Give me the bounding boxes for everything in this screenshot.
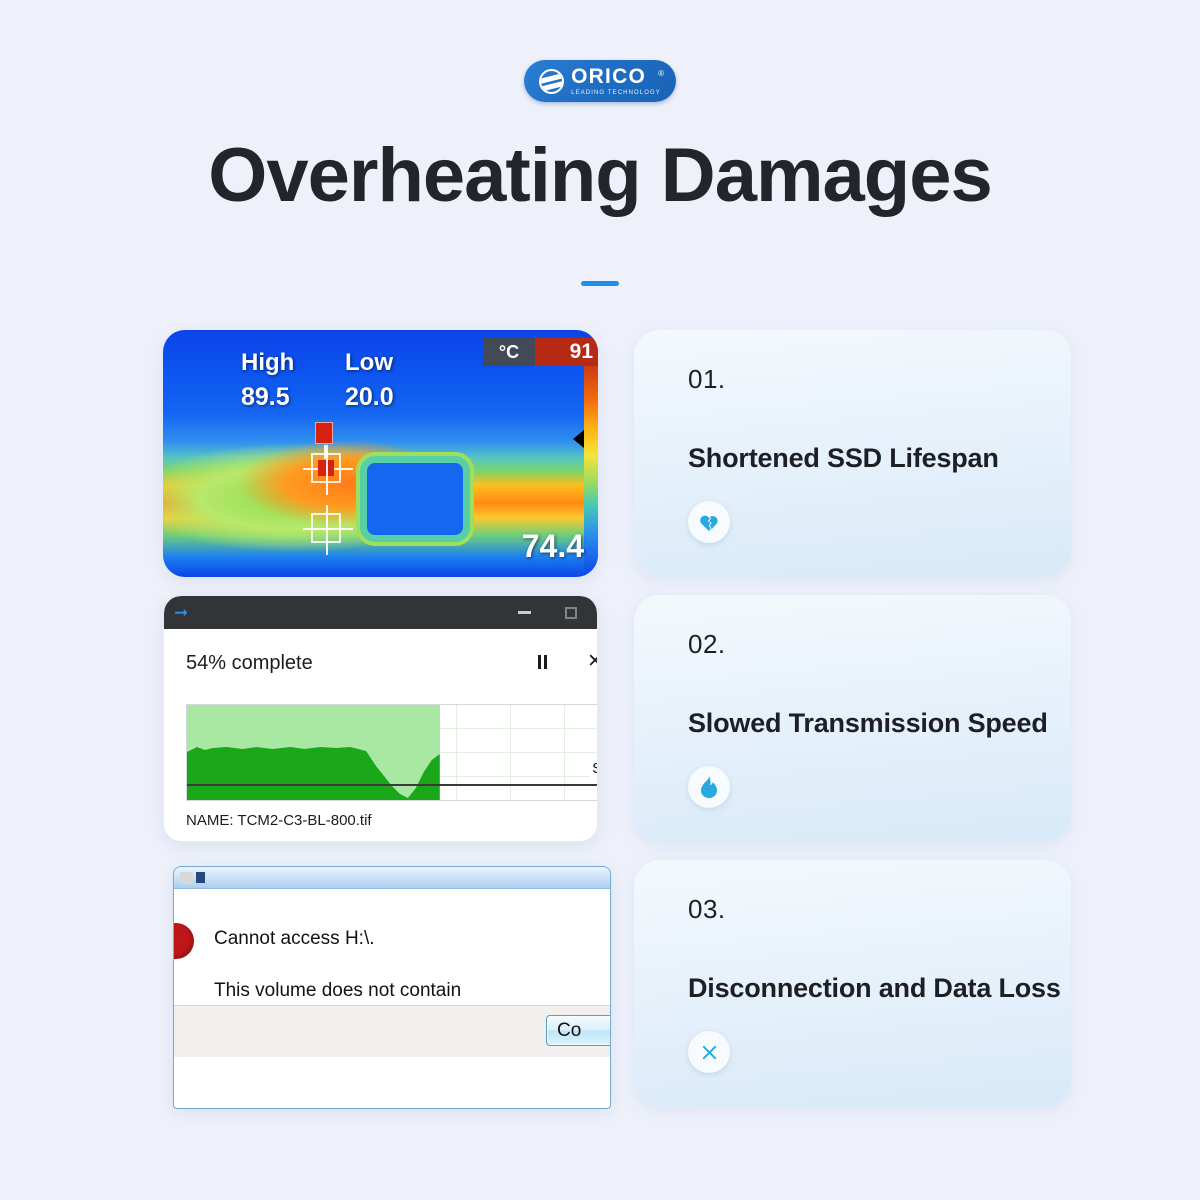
transfer-file-name: NAME: TCM2-C3-BL-800.tif	[186, 812, 372, 829]
error-dialog-body: Cannot access H:\. This volume does not …	[174, 889, 610, 1057]
windows-error-dialog: Cannot access H:\. This volume does not …	[173, 866, 611, 1109]
transfer-graph-baseline	[187, 784, 598, 786]
transfer-titlebar: ➞	[164, 596, 597, 629]
card-title: Slowed Transmission Speed	[688, 708, 1071, 739]
window-controls[interactable]	[518, 596, 577, 629]
flame-icon	[688, 766, 730, 808]
close-icon[interactable]: ✕	[587, 652, 598, 671]
transfer-header: 54% complete ✕	[164, 629, 597, 675]
logo-text-block: ORICO LEADING TECHNOLOGY	[571, 66, 661, 96]
error-line-2a: This volume does not contain	[214, 977, 461, 1006]
minimize-icon[interactable]	[518, 611, 531, 614]
content-grid: High Low 89.5 20.0 °C 91 74.4 01. Shorte…	[163, 330, 1039, 1125]
error-dialog-button[interactable]: Co	[546, 1015, 611, 1046]
transfer-percent-text: 54% complete	[186, 652, 313, 675]
file-transfer-window: ➞ 54% complete ✕	[163, 595, 598, 842]
transfer-controls[interactable]: ✕	[538, 652, 598, 671]
card-number: 03.	[688, 894, 1071, 925]
globe-icon	[539, 69, 564, 94]
thermal-low-value: 20.0	[345, 383, 394, 412]
brand-logo: ORICO LEADING TECHNOLOGY ®	[0, 60, 1200, 102]
close-x-icon	[688, 1031, 730, 1073]
thermal-high-value: 89.5	[241, 383, 290, 412]
card-01[interactable]: 01. Shortened SSD Lifespan	[634, 330, 1071, 577]
thermal-scale-max: 91	[535, 338, 598, 366]
thermal-hotspot-crosshair	[311, 453, 341, 483]
card-title: Shortened SSD Lifespan	[688, 443, 1071, 474]
logo-pill: ORICO LEADING TECHNOLOGY ®	[524, 60, 676, 102]
thermal-unit-label: °C	[483, 338, 535, 366]
error-dialog-cell: Cannot access H:\. This volume does not …	[163, 860, 598, 1107]
card-title: Disconnection and Data Loss	[688, 973, 1071, 1004]
transfer-arrow-icon: ➞	[174, 604, 188, 621]
thermal-low-label: Low	[345, 349, 393, 377]
thermal-color-scale	[584, 366, 598, 577]
page-title: Overheating Damages	[0, 132, 1200, 219]
brand-tagline: LEADING TECHNOLOGY	[571, 90, 661, 96]
card-02[interactable]: 02. Slowed Transmission Speed	[634, 595, 1071, 842]
window-icon	[180, 872, 193, 884]
thermal-hot-marker-flag	[315, 422, 333, 444]
title-divider	[581, 281, 619, 286]
transfer-dialog-cell: ➞ 54% complete ✕	[163, 595, 598, 842]
card-03[interactable]: 03. Disconnection and Data Loss	[634, 860, 1071, 1107]
pause-icon[interactable]	[538, 655, 547, 669]
row-1: High Low 89.5 20.0 °C 91 74.4 01. Shorte…	[163, 330, 1039, 577]
error-dialog-footer: Co	[174, 1005, 610, 1057]
window-icon-secondary	[196, 872, 205, 883]
card-number: 01.	[688, 364, 1071, 395]
broken-heart-icon	[688, 501, 730, 543]
thermal-coldspot-crosshair	[311, 513, 341, 543]
transfer-speed-graph: Speed : 31.2 MB/秒	[186, 704, 598, 801]
registered-mark-icon: ®	[658, 69, 664, 78]
thermal-camera-image: High Low 89.5 20.0 °C 91 74.4	[163, 330, 598, 577]
error-circle-icon	[173, 923, 194, 959]
thermal-image-cell: High Low 89.5 20.0 °C 91 74.4	[163, 330, 598, 577]
thermal-high-label: High	[241, 349, 294, 377]
maximize-icon[interactable]	[565, 607, 577, 619]
card-number: 02.	[688, 629, 1071, 660]
thermal-cool-region	[367, 463, 463, 535]
transfer-speed-waveform	[187, 738, 440, 800]
row-2: ➞ 54% complete ✕	[163, 595, 1039, 842]
thermal-scale-marker-icon	[573, 430, 584, 448]
transfer-speed-text: Speed : 31.2 MB/秒	[590, 757, 598, 778]
error-line-1: Cannot access H:\.	[214, 928, 375, 950]
brand-name: ORICO	[571, 66, 646, 87]
row-3: Cannot access H:\. This volume does not …	[163, 860, 1039, 1107]
error-dialog-titlebar	[174, 867, 610, 889]
thermal-center-value: 74.4	[522, 528, 584, 565]
